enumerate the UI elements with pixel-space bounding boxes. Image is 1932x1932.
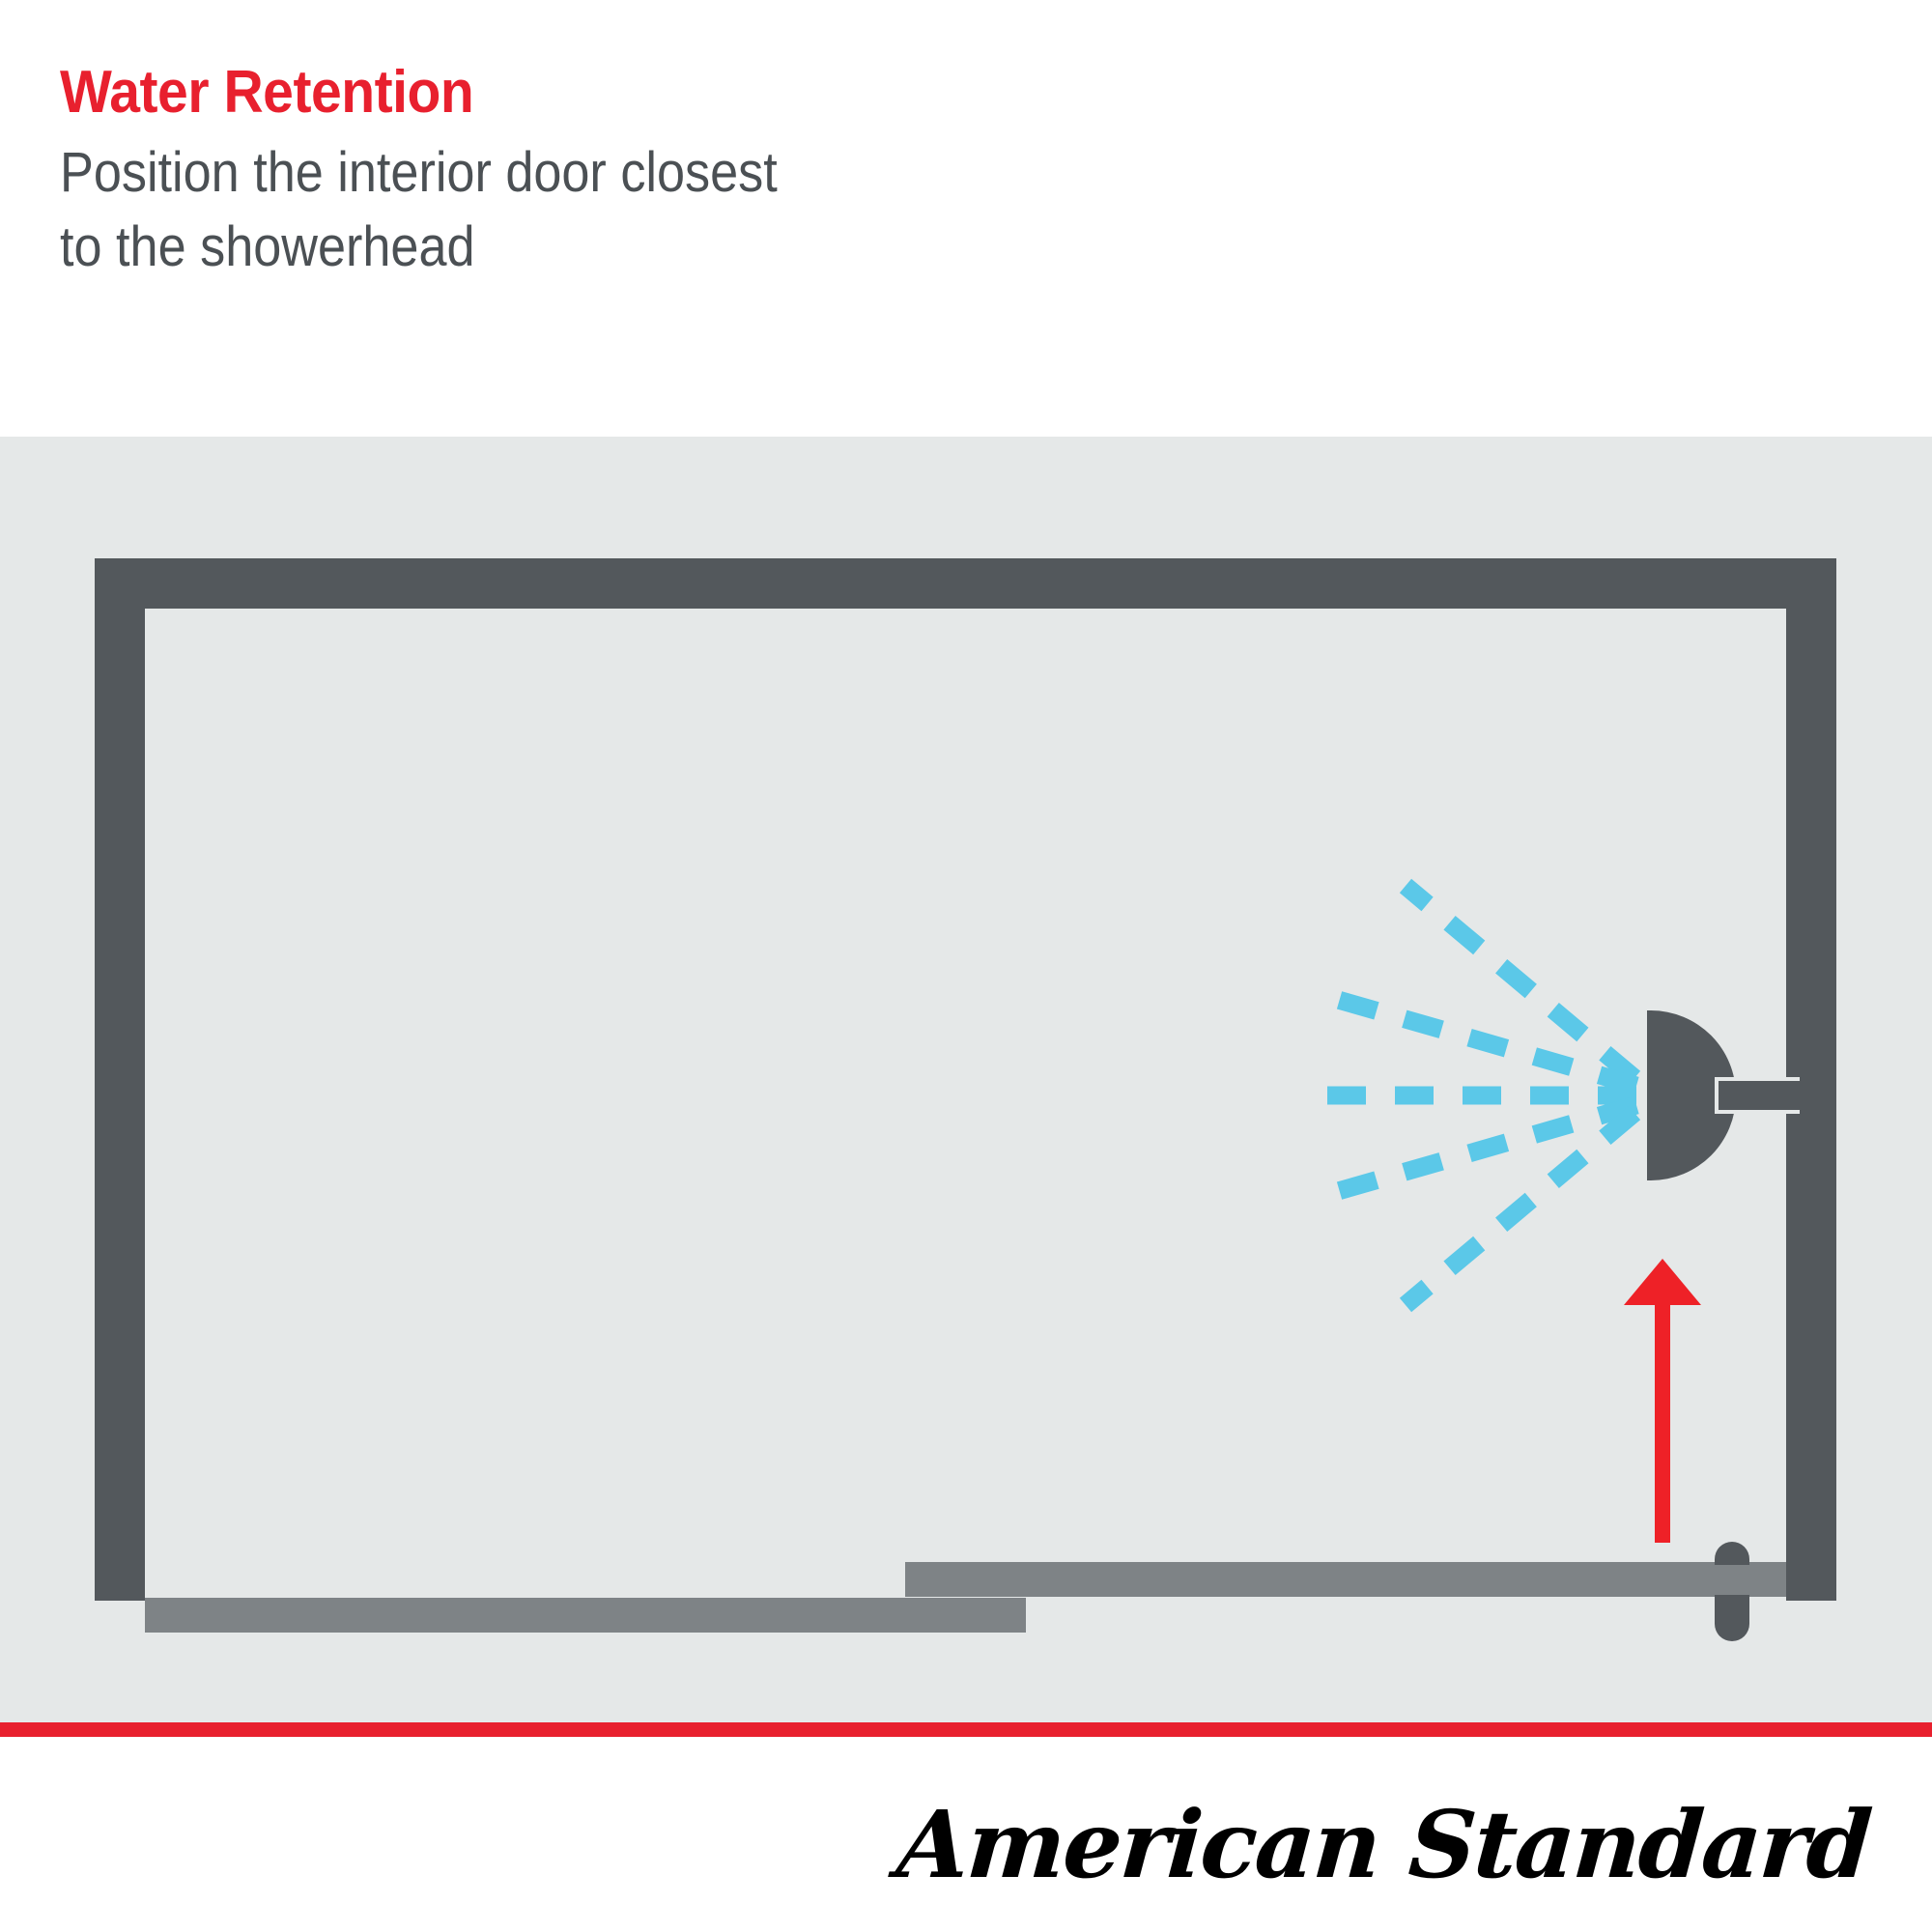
interior-sliding-door	[905, 1562, 1786, 1597]
illustration-panel	[0, 437, 1932, 1722]
enclosure-frame-top-wall	[95, 558, 1836, 609]
page-root: Water Retention Position the interior do…	[0, 0, 1932, 1932]
outer-sliding-door	[145, 1598, 1026, 1633]
american-standard-logo: American Standard	[894, 1790, 1874, 1899]
callout-arrow-shaft	[1655, 1299, 1670, 1543]
door-handle-bottom-cap	[1715, 1595, 1749, 1641]
callout-arrow-head	[1624, 1259, 1701, 1305]
header: Water Retention Position the interior do…	[0, 0, 1932, 437]
enclosure-frame-left-wall	[95, 558, 145, 1601]
page-title: Water Retention	[60, 58, 473, 127]
brand-rule-divider	[0, 1722, 1932, 1737]
page-subtitle: Position the interior door closest to th…	[60, 135, 778, 284]
showerhead-arm-icon	[1715, 1077, 1800, 1114]
